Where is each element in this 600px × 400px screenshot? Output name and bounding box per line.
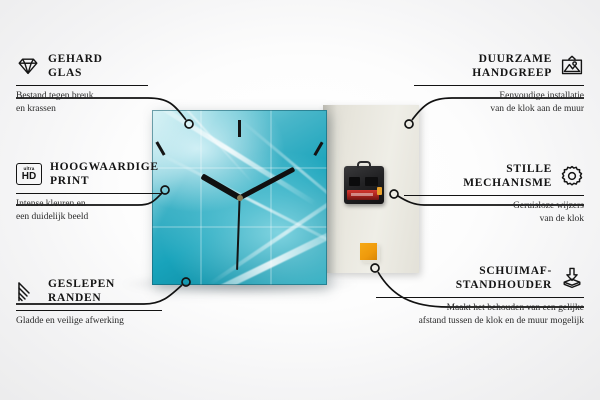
callout-header: SCHUIMAF-STANDHOUDER xyxy=(376,264,584,293)
callout-stille-mechanisme: STILLEMECHANISME Geruisloze wijzersvan d… xyxy=(404,162,584,226)
clock-center-hub xyxy=(237,195,243,201)
wall-picture-icon xyxy=(560,54,584,78)
battery-label-stripe xyxy=(351,193,373,196)
infographic-stage: GEHARDGLAS Bestand tegen breuken krassen… xyxy=(0,0,600,400)
diamond-icon xyxy=(16,54,40,78)
callout-duurzame-handgreep: DUURZAMEHANDGREEP Eenvoudige installatie… xyxy=(414,52,584,116)
callout-divider xyxy=(404,195,584,196)
callout-title: GESLEPENRANDEN xyxy=(48,277,115,306)
callout-header: GESLEPENRANDEN xyxy=(16,277,196,306)
callout-description: Maakt het behouden van een gelijkeafstan… xyxy=(376,302,584,328)
mechanism-hanger xyxy=(357,161,371,168)
callout-header: STILLEMECHANISME xyxy=(404,162,584,191)
callout-divider xyxy=(16,193,162,194)
callout-divider xyxy=(16,310,162,311)
callout-title: STILLEMECHANISME xyxy=(463,162,552,191)
mechanism-slot-left xyxy=(349,177,360,186)
callout-description: Geruisloze wijzersvan de klok xyxy=(404,200,584,226)
callout-title: GEHARDGLAS xyxy=(48,52,103,81)
ultra-hd-icon: ultra HD xyxy=(16,163,42,185)
foam-spacer xyxy=(360,243,377,260)
callout-description: Eenvoudige installatievan de klok aan de… xyxy=(414,90,584,116)
callout-divider xyxy=(376,297,584,298)
callout-title: SCHUIMAF-STANDHOUDER xyxy=(456,264,552,293)
callout-description: Intense kleuren eneen duidelijk beeld xyxy=(16,198,196,224)
clock-tick xyxy=(314,141,324,155)
clock-hour-hand xyxy=(200,173,241,200)
callout-description: Bestand tegen breuken krassen xyxy=(16,90,186,116)
aa-battery xyxy=(347,190,379,200)
mechanism-slot-right xyxy=(365,177,378,186)
callout-header: GEHARDGLAS xyxy=(16,52,186,81)
callout-title: HOOGWAARDIGEPRINT xyxy=(50,160,159,189)
clock-glass-seam xyxy=(270,110,272,285)
callout-divider xyxy=(16,85,148,86)
clock-tick xyxy=(238,120,241,137)
callout-geslepen-randen: GESLEPENRANDEN Gladde en veilige afwerki… xyxy=(16,277,196,328)
clock-mechanism xyxy=(344,166,384,204)
callout-header: ultra HD HOOGWAARDIGEPRINT xyxy=(16,160,196,189)
callout-gehard-glas: GEHARDGLAS Bestand tegen breuken krassen xyxy=(16,52,186,116)
callout-divider xyxy=(414,85,584,86)
clock-second-hand xyxy=(236,197,240,269)
bevelled-edges-icon xyxy=(16,279,40,303)
clock-glass-seam xyxy=(200,110,202,285)
callout-description: Gladde en veilige afwerking xyxy=(16,315,196,328)
callout-hoogwaardige-print: ultra HD HOOGWAARDIGEPRINT Intense kleur… xyxy=(16,160,196,224)
callout-header: DUURZAMEHANDGREEP xyxy=(414,52,584,81)
gear-icon xyxy=(560,164,584,188)
callout-title: DUURZAMEHANDGREEP xyxy=(472,52,552,81)
callout-schuimafstandhouder: SCHUIMAF-STANDHOUDER Maakt het behouden … xyxy=(376,264,584,328)
battery-positive-tip xyxy=(377,187,382,195)
spacer-arrow-icon xyxy=(560,266,584,290)
